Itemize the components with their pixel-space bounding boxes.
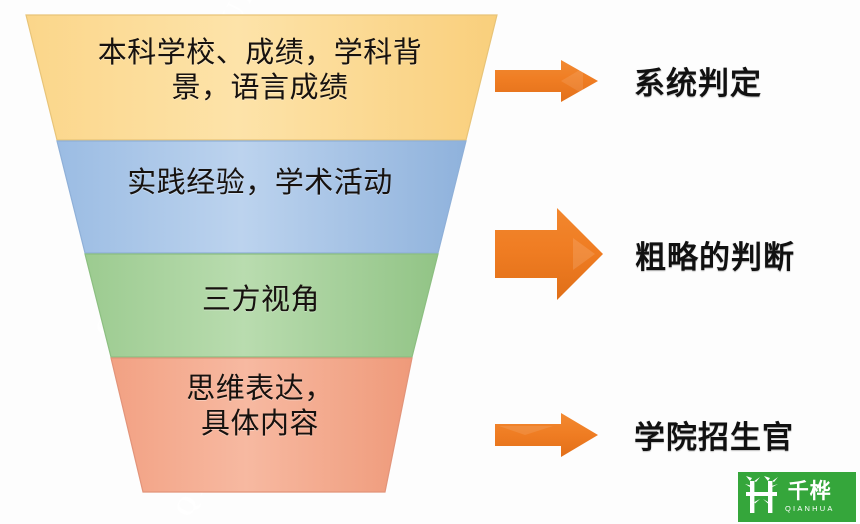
right-arrow-icon	[495, 413, 598, 457]
right-arrow-icon	[495, 60, 598, 102]
callout-row-3: 学院招生官	[495, 412, 794, 457]
funnel-band-3-label: 三方视角	[86, 283, 436, 318]
callout-label-3: 学院招生官	[634, 412, 794, 457]
callout-label-1: 系统判定	[634, 58, 762, 103]
right-arrow-icon	[495, 208, 603, 300]
funnel-band-4-label: 思维表达， 具体内容	[110, 372, 410, 443]
diagram-canvas: QIANHUA 千桦 QIANHUA 千桦 QIANHUA	[0, 0, 860, 524]
qianhua-tree-mark-icon	[744, 475, 782, 520]
logo-en-text: QIANHUA	[785, 505, 835, 513]
funnel-band-1-label: 本科学校、成绩，学科背 景，语言成绩	[40, 36, 480, 107]
callout-row-1: 系统判定	[495, 58, 762, 103]
logo-cn-text: 千桦	[788, 481, 832, 502]
qianhua-logo: 千桦 QIANHUA	[738, 472, 856, 522]
callout-label-2: 粗略的判断	[635, 232, 795, 277]
logo-wordmark: 千桦 QIANHUA	[785, 481, 835, 513]
funnel-shape: 本科学校、成绩，学科背 景，语言成绩 实践经验，学术活动 三方视角 思维表达， …	[0, 0, 520, 524]
callout-row-2: 粗略的判断	[495, 208, 795, 300]
funnel-band-2-label: 实践经验，学术活动	[60, 166, 460, 201]
